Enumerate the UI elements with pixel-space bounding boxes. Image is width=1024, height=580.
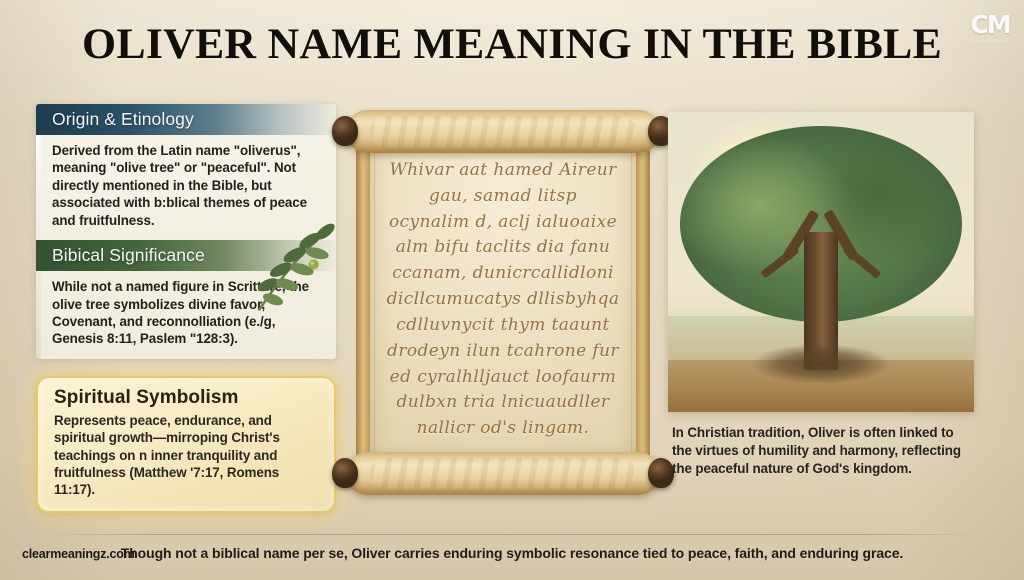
- photo-caption: In Christian tradition, Oliver is often …: [672, 424, 972, 477]
- scroll-knob-bottom-right: [648, 458, 674, 488]
- tree-roots: [751, 344, 891, 384]
- parchment-scroll: Whivar aat hamed Aireur gau, samad litsp…: [332, 100, 674, 500]
- info-card-origin: Origin & Etinology Derived from the Lati…: [36, 104, 336, 240]
- info-card-symbolism: Spiritual Symbolism Represents peace, en…: [36, 376, 336, 513]
- scroll-knob-top-left: [332, 116, 358, 146]
- infographic-poster: CM CLEAR MEANINGZ OLIVER NAME MEANING IN…: [0, 0, 1024, 580]
- card-body-origin: Derived from the Latin name "oliverus", …: [36, 135, 336, 240]
- info-card-significance: Bibical Significance While not a named f…: [36, 240, 336, 359]
- scroll-rod-top: [346, 110, 660, 153]
- olive-tree-image: [668, 112, 974, 412]
- card-heading-symbolism: Spiritual Symbolism: [54, 387, 320, 409]
- card-body-symbolism: Represents peace, endurance, and spiritu…: [54, 412, 320, 499]
- left-content-column: Origin & Etinology Derived from the Lati…: [36, 104, 336, 513]
- info-card-stack: Origin & Etinology Derived from the Lati…: [36, 104, 336, 359]
- scroll-rod-bottom: [346, 452, 660, 495]
- card-heading-origin: Origin & Etinology: [36, 104, 336, 135]
- site-watermark: clearmeaningz.com: [22, 547, 135, 561]
- scroll-knob-bottom-left: [332, 458, 358, 488]
- scroll-parchment-sheet: Whivar aat hamed Aireur gau, samad litsp…: [370, 136, 636, 462]
- footer-summary-text: Though not a biblical name per se, Olive…: [0, 545, 1024, 561]
- card-body-significance: While not a named figure in Scritture, t…: [36, 271, 336, 359]
- card-heading-significance: Bibical Significance: [36, 240, 336, 271]
- page-title: OLIVER NAME MEANING IN THE BIBLE: [0, 23, 1024, 68]
- footer-divider: [44, 534, 980, 535]
- scroll-calligraphy-text: Whivar aat hamed Aireur gau, samad litsp…: [386, 158, 620, 442]
